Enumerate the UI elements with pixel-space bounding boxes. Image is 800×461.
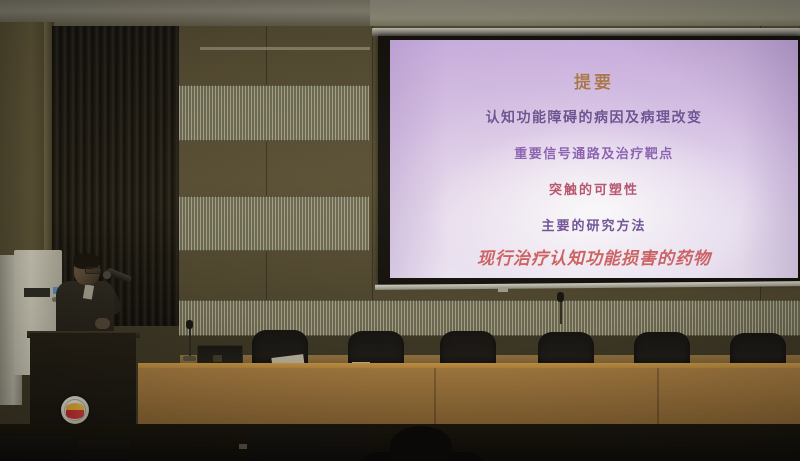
gooseneck-microphone-base: [183, 356, 196, 361]
slide-title: 提要: [574, 68, 614, 93]
lecture-hall-scene: 提要 认知功能障碍的病因及病理改变 重要信号通路及治疗靶点 突触的可塑性 主要的…: [0, 0, 800, 461]
seat-number-badge: [239, 444, 247, 449]
acoustic-panel-band: [179, 196, 369, 251]
screen-bar-tab: [498, 287, 508, 292]
podium-emblem: [61, 396, 89, 424]
desk-seam: [657, 368, 659, 424]
foreground-seat-back: [78, 440, 130, 461]
emblem-ring-icon: [64, 399, 86, 421]
slide-bullet-5: 现行治疗认知功能损害的药物: [477, 244, 711, 269]
slide-bullet-3: 突触的可塑性: [549, 179, 639, 198]
microphone-head-icon: [103, 271, 111, 279]
gooseneck-microphone-head-icon: [186, 320, 193, 329]
foreground-seat-back: [248, 428, 366, 461]
wall-seam: [372, 26, 373, 336]
desk-seam: [434, 368, 436, 424]
acoustic-panel-band: [179, 85, 369, 141]
foreground-seat-back: [0, 436, 70, 461]
wall-microphone-head-icon: [557, 292, 564, 302]
laptop-screen-glow: [213, 355, 222, 362]
podium: [30, 333, 136, 438]
wall-trim-rail: [200, 47, 370, 50]
glasses-icon: [85, 267, 101, 274]
slide-content: 提要 认知功能障碍的病因及病理改变 重要信号通路及治疗靶点 突触的可塑性 主要的…: [390, 40, 798, 278]
panel-desk-front: [138, 368, 800, 424]
air-conditioner-display: [24, 288, 50, 297]
slide-bullet-4: 主要的研究方法: [541, 215, 646, 234]
slide-bullet-2: 重要信号通路及治疗靶点: [514, 143, 674, 162]
speaker-hand: [95, 318, 110, 329]
wall-seam: [266, 26, 267, 336]
projection-screen-surface: 提要 认知功能障碍的病因及病理改变 重要信号通路及治疗靶点 突触的可塑性 主要的…: [390, 40, 798, 278]
slide-bullet-1: 认知功能障碍的病因及病理改变: [486, 107, 703, 127]
audience-head: [390, 426, 452, 461]
